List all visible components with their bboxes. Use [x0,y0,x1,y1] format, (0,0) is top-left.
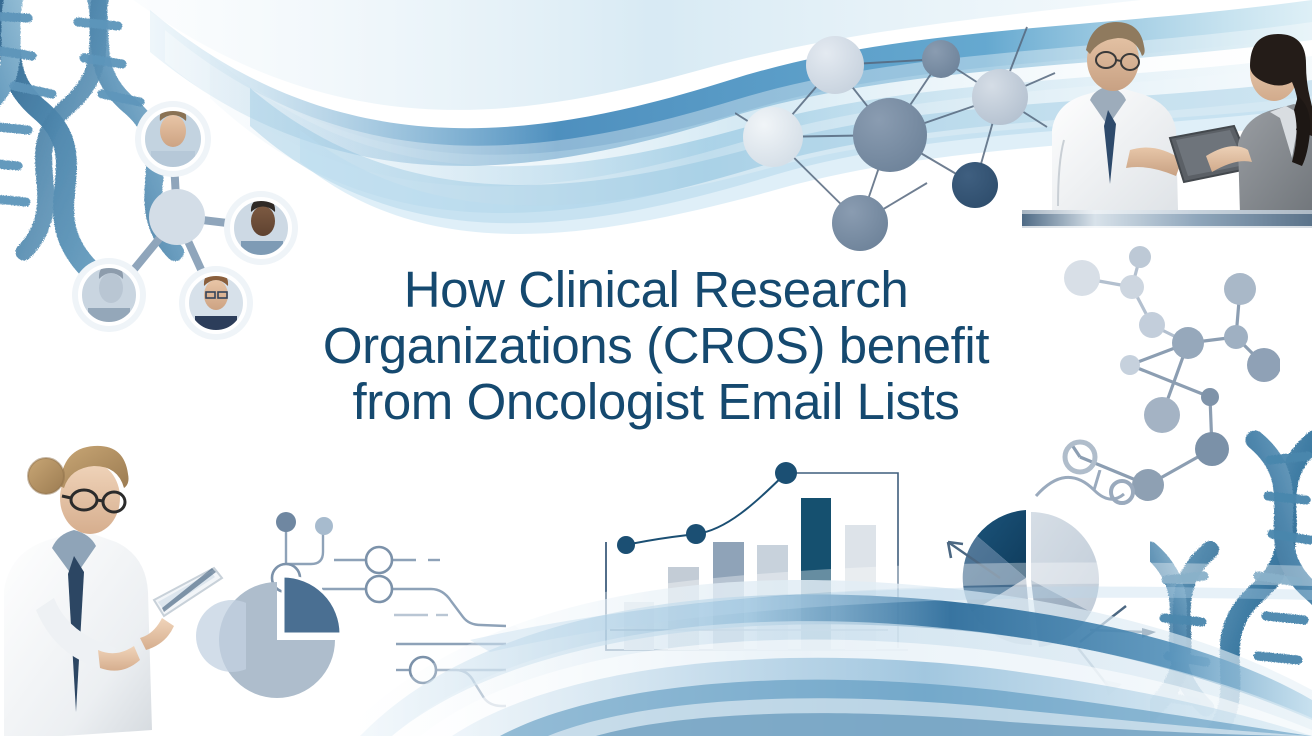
wave-ribbon-bottom [0,0,1312,736]
banner-canvas: How Clinical Research Organizations (CRO… [0,0,1312,736]
